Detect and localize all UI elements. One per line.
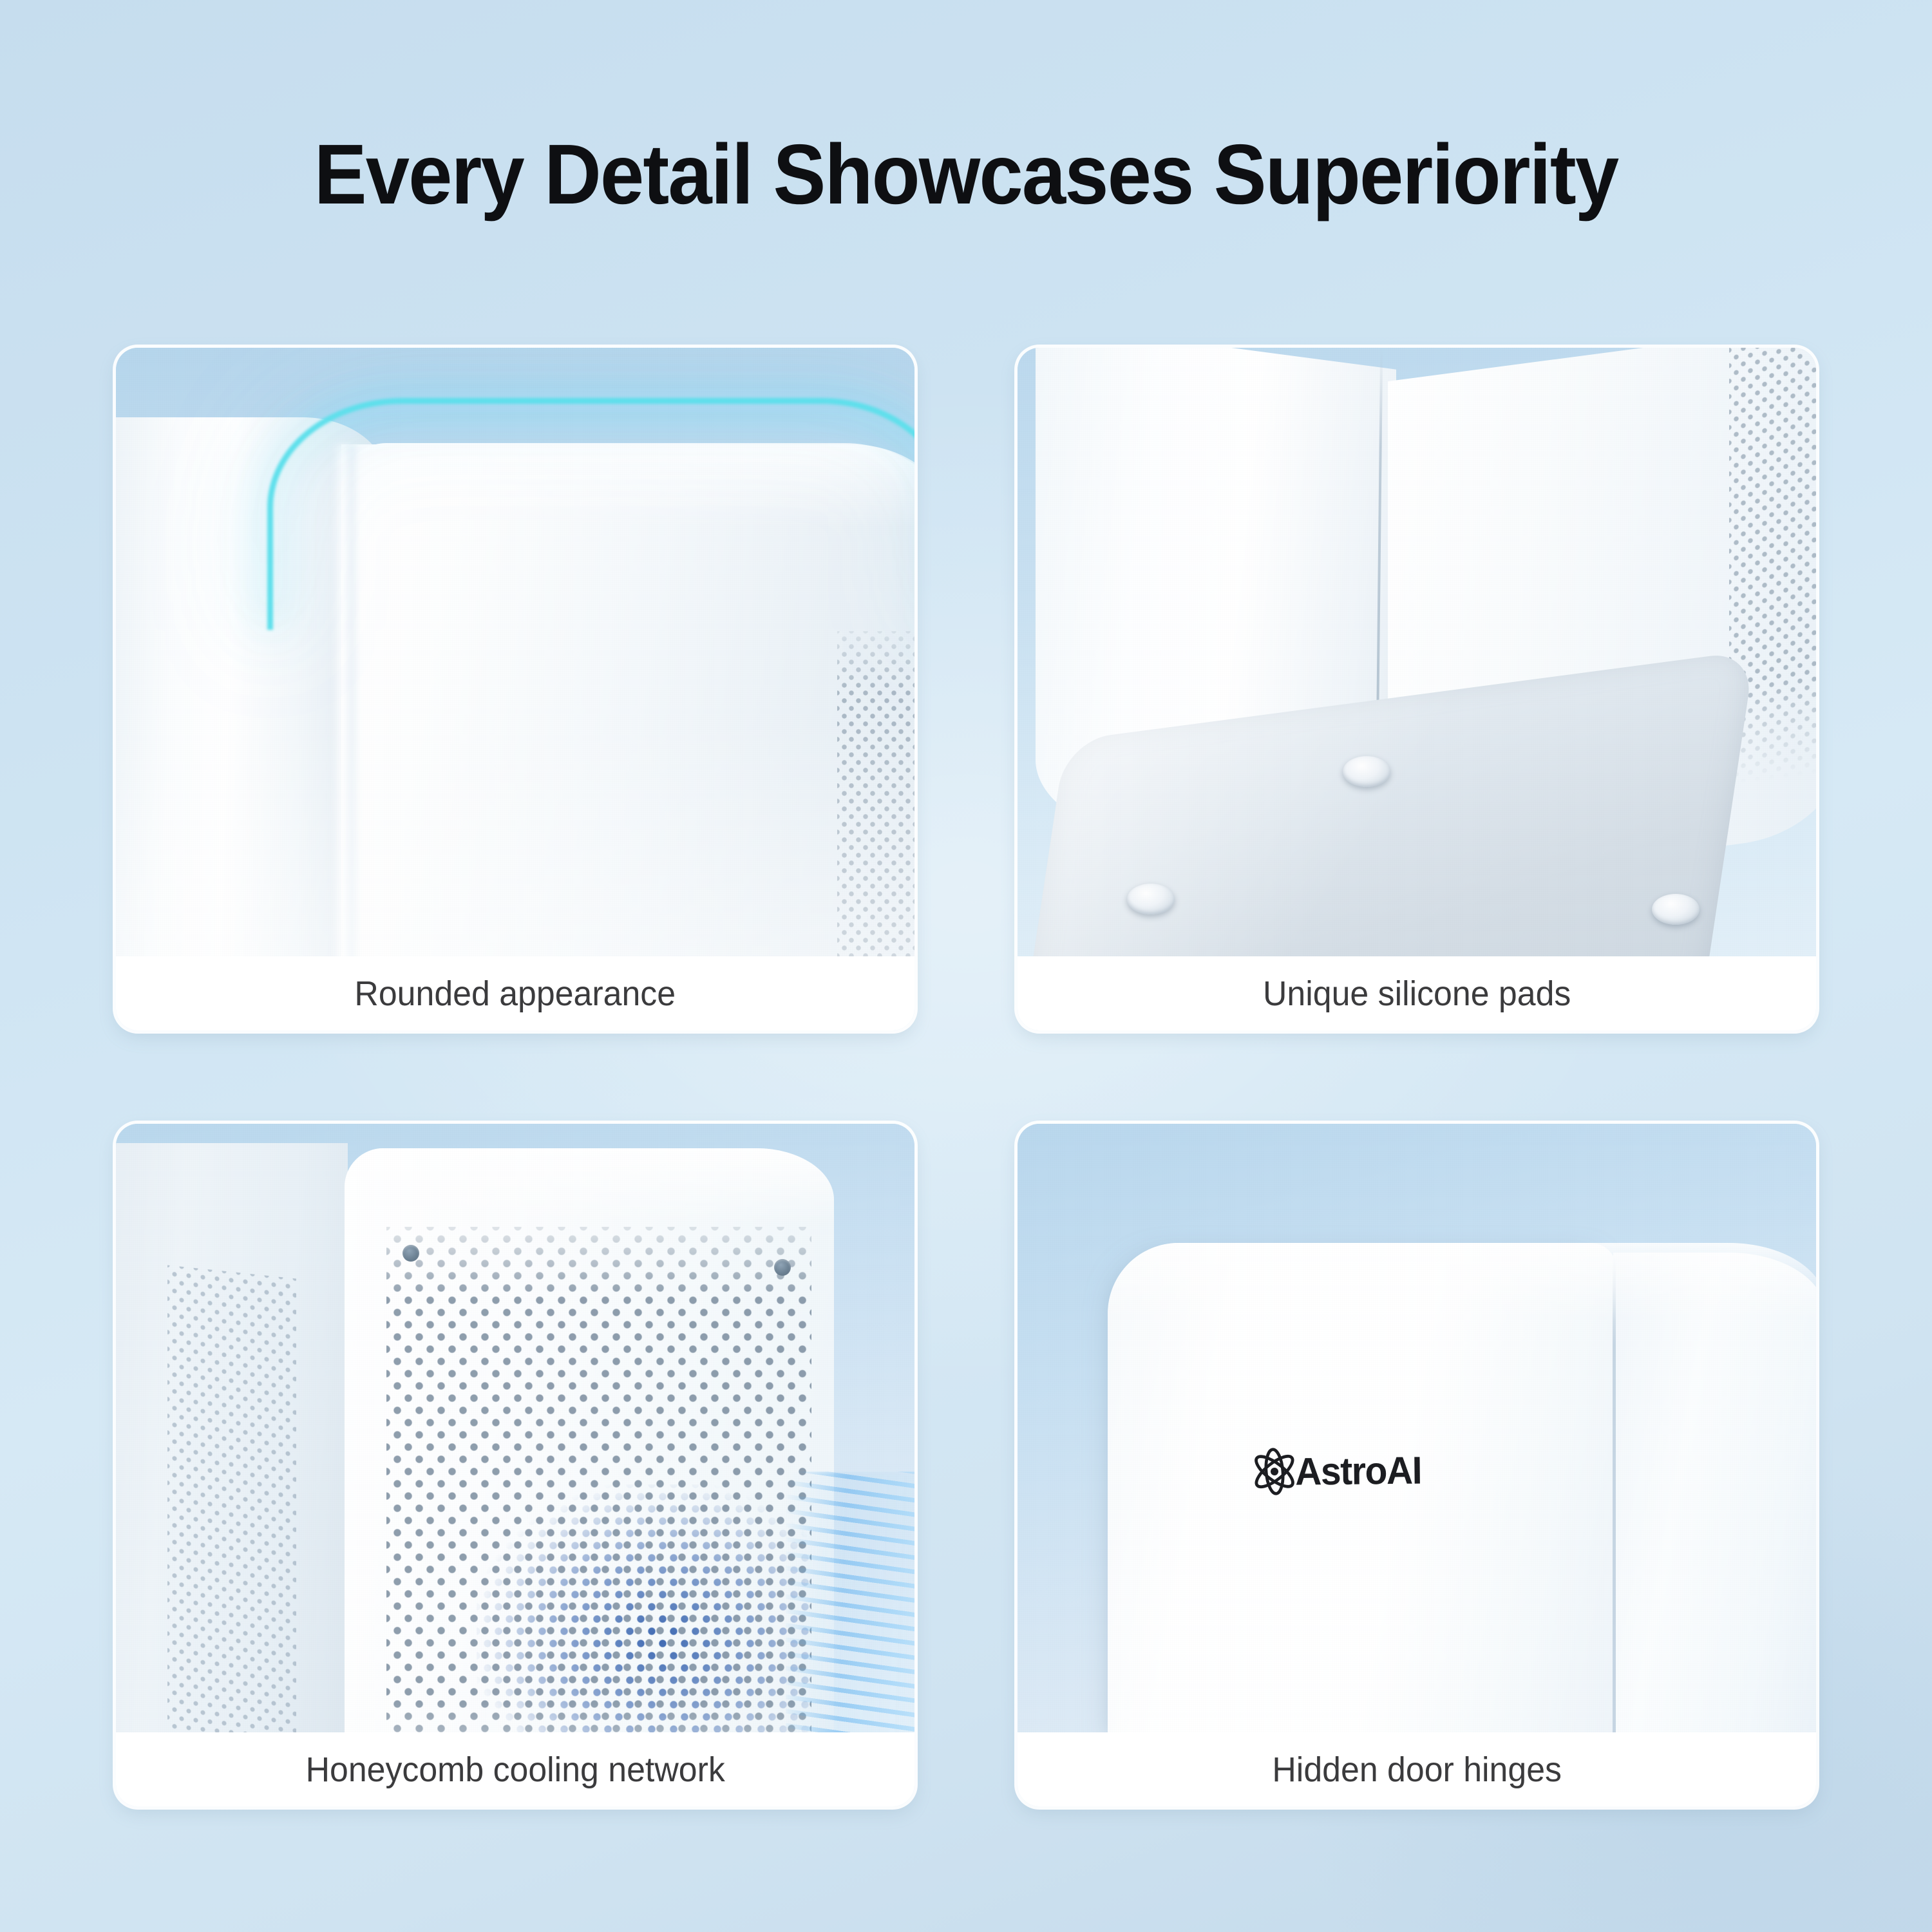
- brand-name: AstroAI: [1295, 1448, 1422, 1493]
- floor-fade: [116, 715, 914, 960]
- page-title: Every Detail Showcases Superiority: [68, 126, 1864, 223]
- silicone-foot: [1343, 756, 1390, 787]
- product-photo-silicone-pads: [1018, 348, 1816, 960]
- product-photo-rounded-appearance: [116, 348, 914, 960]
- feature-card-grid: Rounded appearance Unique silicone pads: [116, 348, 1816, 1806]
- feature-card-honeycomb-cooling[interactable]: Honeycomb cooling network: [116, 1124, 914, 1806]
- product-top-highlight: [345, 1148, 834, 1226]
- feature-card-hidden-hinges[interactable]: AstroAI Hidden door hinges: [1018, 1124, 1816, 1806]
- caption-bar-silicone-pads: Unique silicone pads: [1018, 956, 1816, 1030]
- product-photo-honeycomb-cooling: [116, 1124, 914, 1736]
- airflow-streaks-icon: [786, 1472, 914, 1736]
- caption-bar-rounded-appearance: Rounded appearance: [116, 956, 914, 1030]
- product-top-highlight: [1108, 1243, 1816, 1320]
- screw-icon: [774, 1259, 791, 1276]
- feature-card-rounded-appearance[interactable]: Rounded appearance: [116, 348, 914, 1030]
- honeycomb-airflow-tint: [477, 1484, 811, 1736]
- brand-logo: AstroAI: [1247, 1443, 1425, 1500]
- silicone-foot: [1652, 894, 1700, 925]
- corner-glow-line-icon: [267, 398, 914, 630]
- side-vent-perforations: [167, 1265, 296, 1736]
- caption-label: Rounded appearance: [355, 975, 676, 1012]
- hidden-hinge-seam: [1613, 1256, 1616, 1736]
- product-photo-hidden-hinges: AstroAI: [1018, 1124, 1816, 1736]
- caption-bar-honeycomb-cooling: Honeycomb cooling network: [116, 1732, 914, 1806]
- caption-label: Hidden door hinges: [1272, 1751, 1562, 1788]
- feature-card-silicone-pads[interactable]: Unique silicone pads: [1018, 348, 1816, 1030]
- caption-label: Unique silicone pads: [1263, 975, 1571, 1012]
- caption-bar-hidden-hinges: Hidden door hinges: [1018, 1732, 1816, 1806]
- product-side-face: [1613, 1253, 1816, 1736]
- atom-orbit-icon: [1247, 1444, 1303, 1500]
- silicone-foot: [1127, 884, 1175, 914]
- caption-label: Honeycomb cooling network: [305, 1751, 724, 1788]
- screw-icon: [402, 1245, 419, 1262]
